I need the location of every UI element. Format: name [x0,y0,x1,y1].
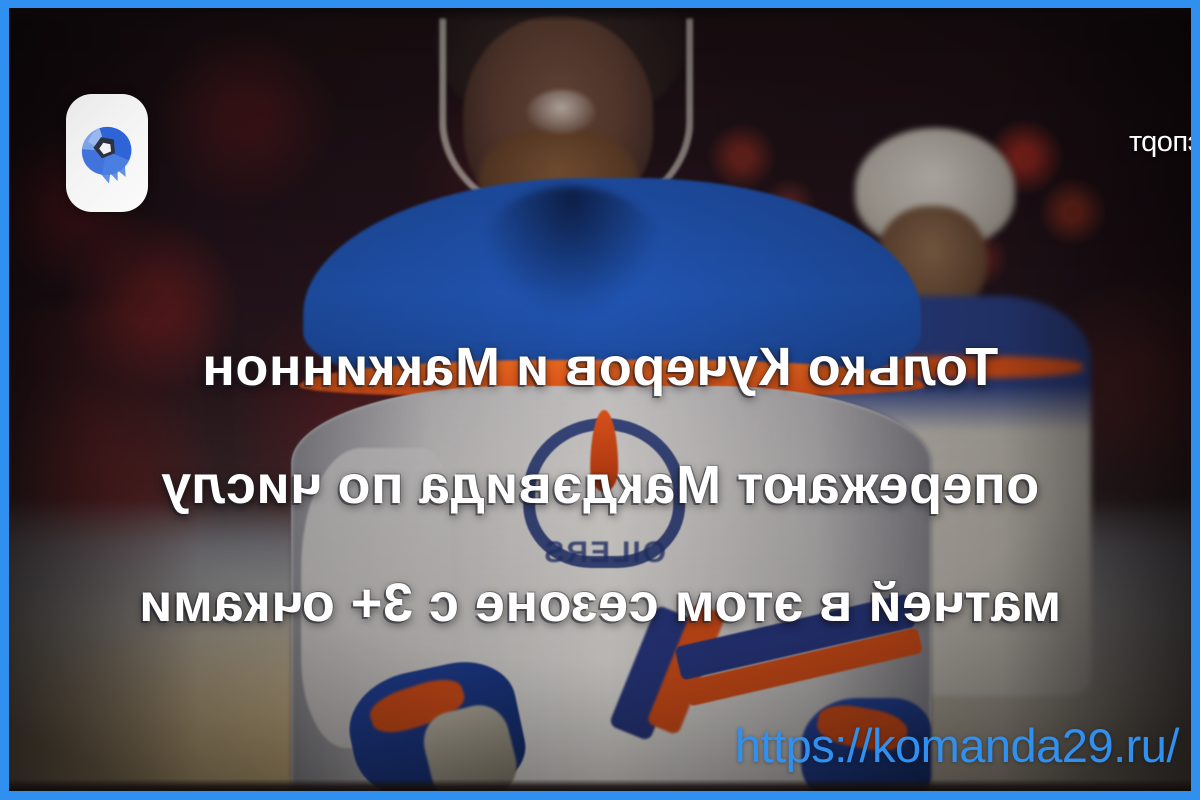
photo-top-shadow [9,8,1191,22]
hockey-photo: OILERS [9,8,1191,791]
image-frame-inner: OILERS Рамблер/спорт [9,8,1191,791]
image-card: OILERS Рамблер/спорт [0,0,1200,800]
site-url-watermark[interactable]: https://komanda29.ru/ [735,718,1179,773]
rambler-logo-section: спорт [1129,126,1191,158]
soccer-ball-app-icon[interactable] [66,94,148,212]
photo-vignette [9,8,1191,791]
rambler-sport-logo[interactable]: Рамблер/спорт [1129,122,1191,157]
photo-bottom-shadow [9,779,1191,791]
